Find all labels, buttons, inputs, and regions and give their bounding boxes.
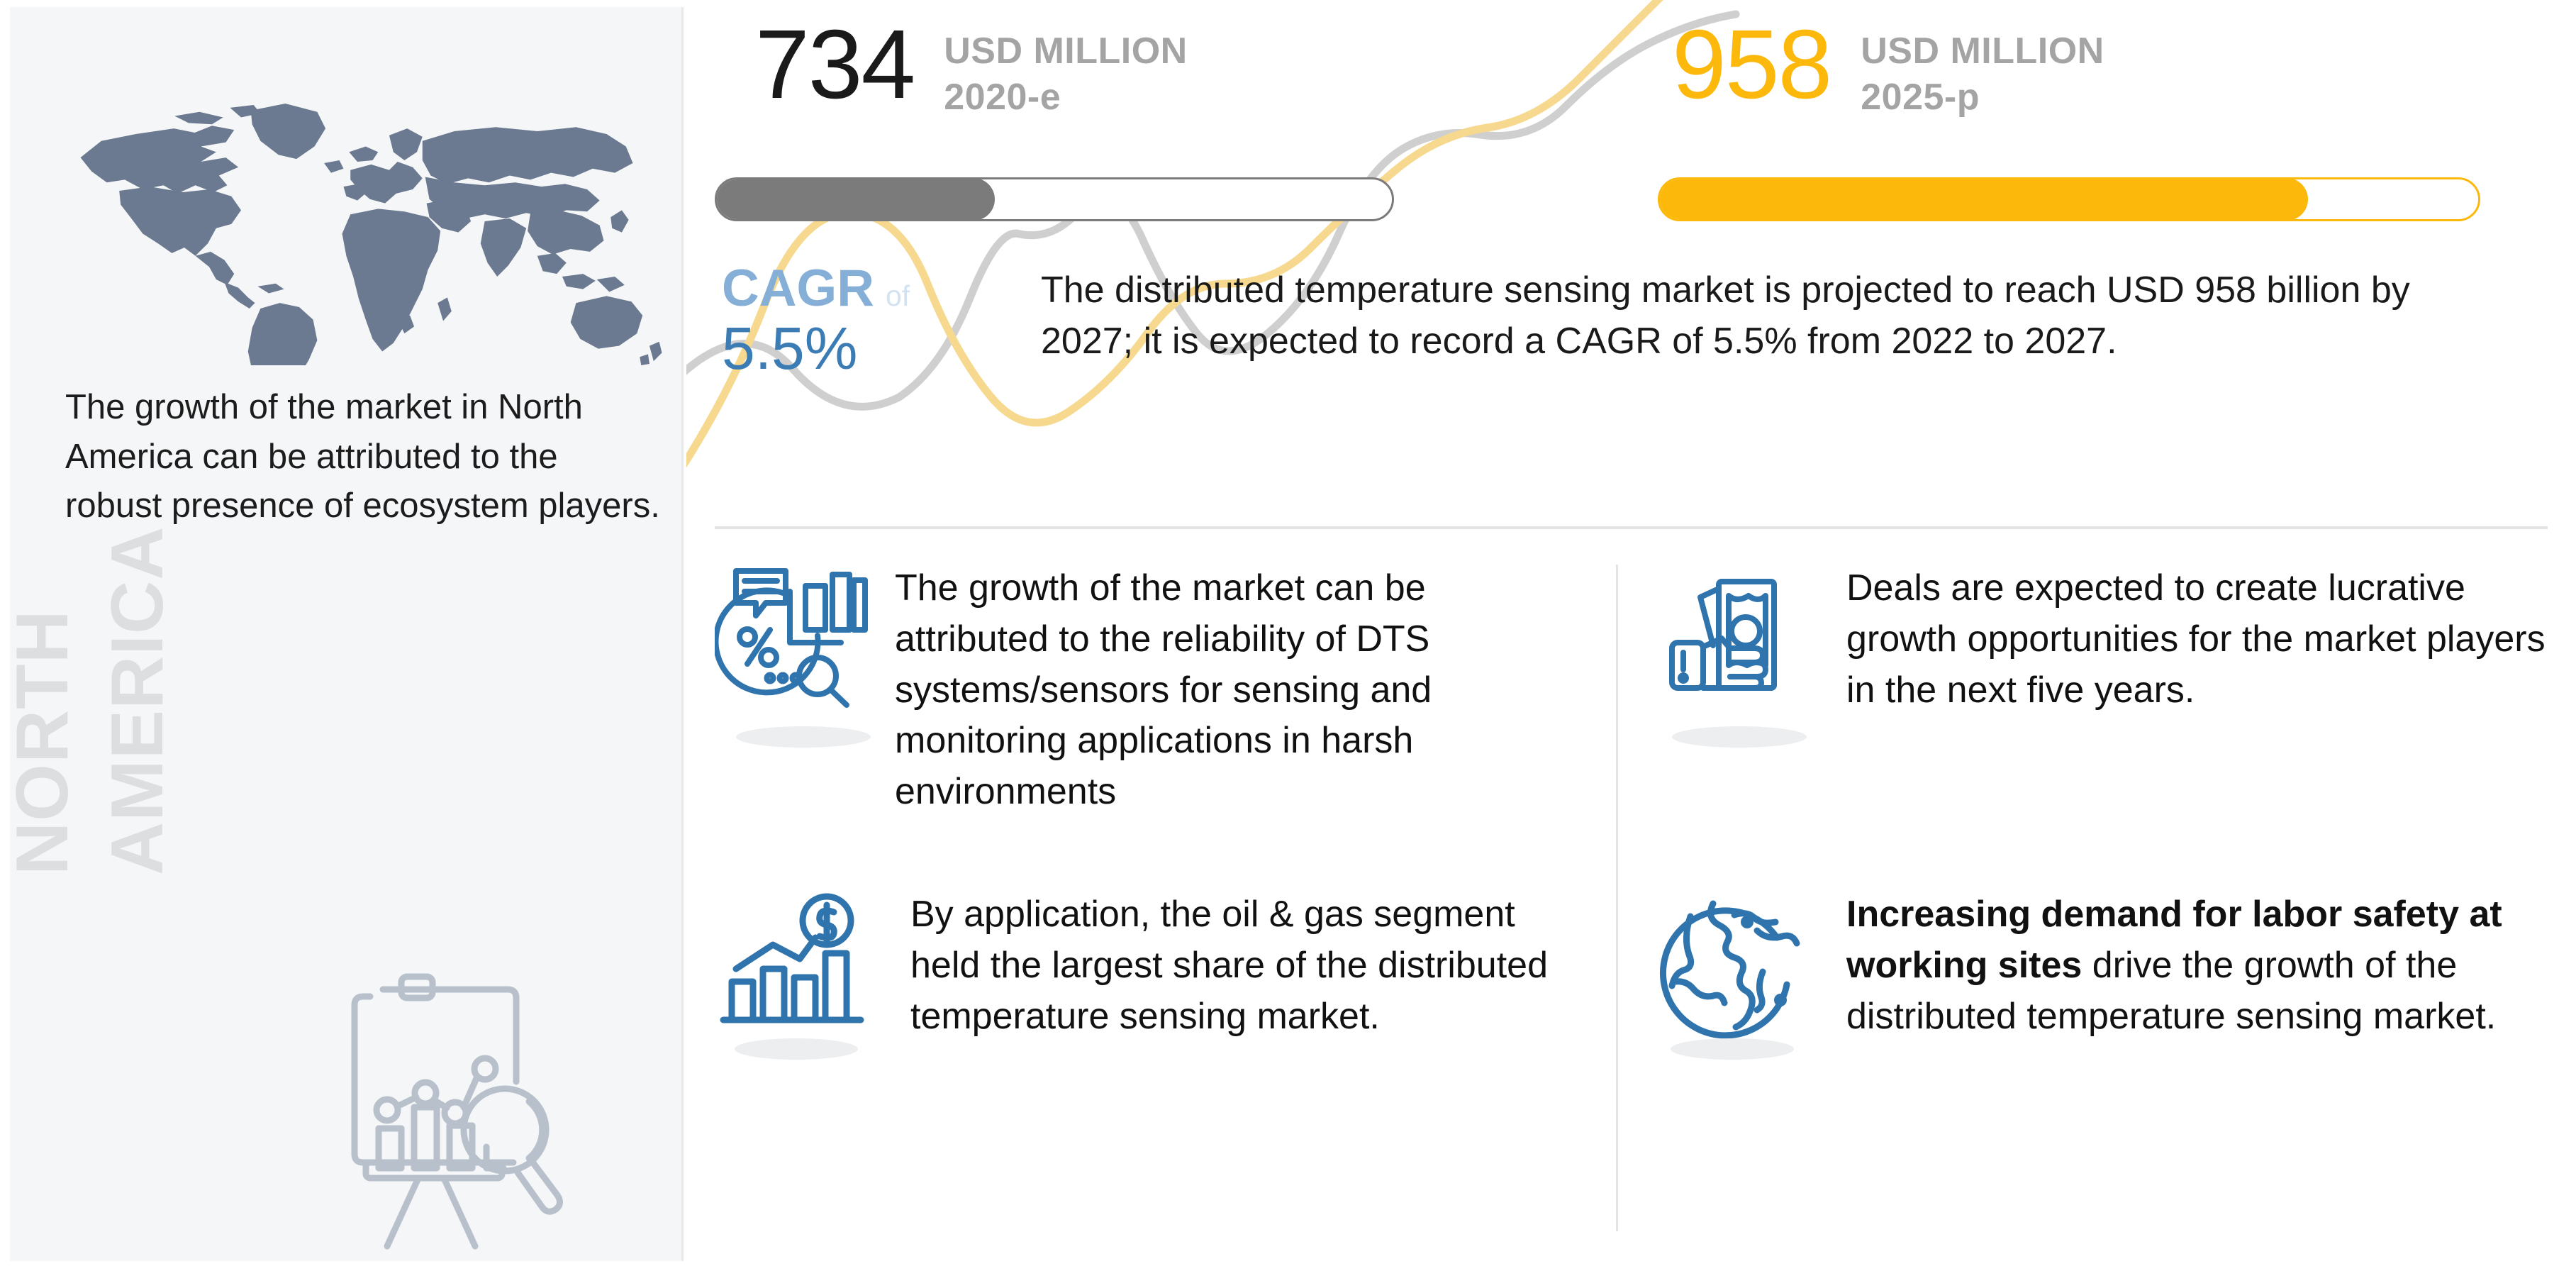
insight-item-growth-reliability-text: The growth of the market can be attribut… (895, 559, 1583, 818)
insight-item-growth-reliability: The growth of the market can be attribut… (715, 559, 1587, 818)
metric-2025-progress-fill (1658, 178, 2308, 221)
metric-2025-header: 958 USD MILLION 2025-p (1658, 16, 2104, 121)
metric-2020-header: 734 USD MILLION 2020-e (715, 16, 1188, 121)
globe-icon (1651, 885, 1814, 1048)
icon-shadow (1672, 726, 1807, 748)
infographic-page: The growth of the market in North Americ… (0, 0, 2576, 1271)
hand-holding-money-icon (1651, 559, 1828, 736)
icon-shadow (736, 726, 871, 748)
cagr-block: CAGR of 5.5% (722, 262, 1020, 379)
icon-shadow (735, 1038, 859, 1060)
region-watermark: NORTH AMERICA (17, 773, 322, 1261)
insight-bullets: The growth of the market can be attribut… (686, 559, 2576, 1268)
horizontal-divider (715, 526, 2548, 529)
left-region-paragraph: The growth of the market in North Americ… (65, 383, 661, 531)
insight-item-oil-gas-segment-text: By application, the oil & gas segment he… (910, 885, 1570, 1042)
insight-item-labor-safety-text: Increasing demand for labor safety at wo… (1846, 885, 2551, 1042)
insight-item-deals-opportunities-text: Deals are expected to create lucrative g… (1846, 559, 2551, 716)
metric-2025: 958 USD MILLION 2025-p (1658, 16, 2553, 250)
market-description-text: The distributed temperature sensing mark… (1041, 265, 2502, 367)
watermark-line-north: NORTH (10, 609, 85, 875)
metric-2025-progress-track (1658, 177, 2480, 221)
metric-2025-year: 2025-p (1861, 74, 2104, 121)
insight-item-deals-opportunities: Deals are expected to create lucrative g… (1651, 559, 2551, 736)
metric-2020-year: 2020-e (944, 74, 1187, 121)
left-region-panel: The growth of the market in North Americ… (10, 7, 684, 1261)
watermark-line-america: AMERICA (96, 526, 180, 875)
metric-2025-unit: USD MILLION (1861, 28, 2104, 74)
insight-item-labor-safety: Increasing demand for labor safety at wo… (1651, 885, 2551, 1048)
cagr-row: CAGR of 5.5% The distributed temperature… (686, 262, 2576, 447)
metric-2020-labels: USD MILLION 2020-e (944, 28, 1187, 121)
metric-2020: 734 USD MILLION 2020-e (715, 16, 1610, 250)
icon-shadow (1671, 1038, 1795, 1060)
cagr-label: CAGR (722, 262, 874, 314)
bar-chart-dollar-growth-icon (715, 885, 878, 1048)
right-content-area: 734 USD MILLION 2020-e 958 USD MILLION 2… (686, 0, 2576, 1271)
metric-2020-progress-track (715, 177, 1394, 221)
metric-2020-unit: USD MILLION (944, 28, 1187, 74)
metric-2020-value: 734 (755, 16, 914, 113)
metric-2025-labels: USD MILLION 2025-p (1861, 28, 2104, 121)
cagr-percent-value: 5.5% (722, 317, 1020, 379)
metrics-row: 734 USD MILLION 2020-e 958 USD MILLION 2… (686, 16, 2576, 250)
presentation-analytics-icon (279, 968, 584, 1259)
metric-2020-progress-fill (715, 178, 995, 221)
cagr-headline: CAGR of (722, 262, 1020, 314)
analytics-percent-magnifier-icon (715, 559, 892, 736)
insight-item-oil-gas-segment: By application, the oil & gas segment he… (715, 885, 1587, 1048)
cagr-of-label: of (886, 282, 910, 311)
metric-2025-value: 958 (1672, 16, 1831, 113)
world-map-icon (49, 74, 666, 365)
